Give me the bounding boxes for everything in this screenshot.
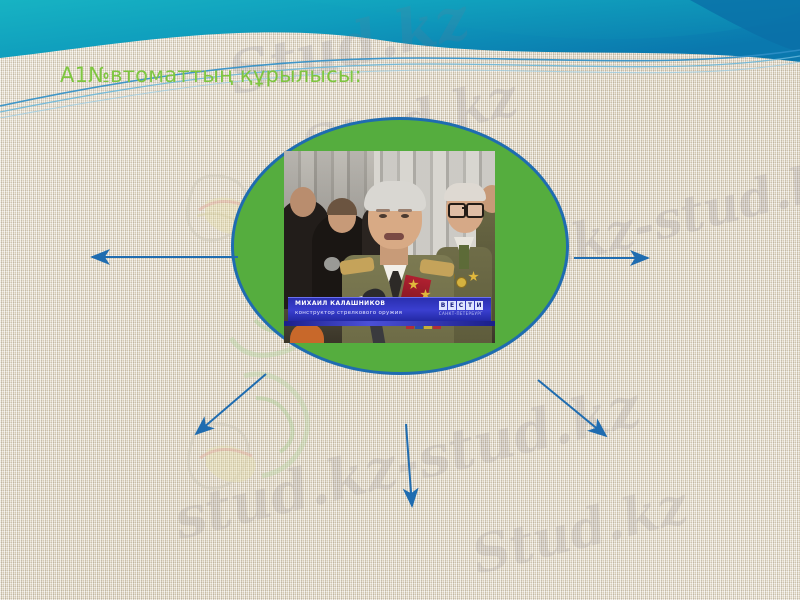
photo-kalashnikov-brow-left	[376, 209, 390, 212]
photo-scene: МИХАИЛ КАЛАШНИКОВ конструктор стрелковог…	[284, 151, 495, 343]
page-title: А1№втоматтың құрылысы:	[60, 63, 362, 87]
photo-kalashnikov-brow-right	[398, 209, 412, 212]
photo-bystander-head	[290, 187, 316, 217]
photo-kalashnikov-eye-left	[379, 214, 387, 218]
kalashnikov-photo[interactable]: МИХАИЛ КАЛАШНИКОВ конструктор стрелковог…	[284, 151, 495, 343]
photo-microphone-secondary	[324, 257, 340, 271]
tv-channel-letter: И	[475, 301, 483, 310]
photo-officer-glasses-hair	[444, 183, 486, 201]
tv-channel-logo: В Е С Т И	[439, 301, 483, 310]
photo-officer-glasses-lens-right	[466, 203, 484, 218]
photo-officer-glasses-medal	[456, 277, 467, 288]
tv-caption-bar: МИХАИЛ КАЛАШНИКОВ конструктор стрелковог…	[288, 297, 491, 322]
photo-officer-glasses-bridge	[462, 207, 467, 209]
tv-channel-sublabel: САНКТ-ПЕТЕРБУРГ	[439, 311, 483, 316]
photo-kalashnikov-eye-right	[401, 214, 409, 218]
tv-channel-letter: С	[457, 301, 465, 310]
tv-channel-letter: Т	[466, 301, 474, 310]
tv-channel-letter: В	[439, 301, 447, 310]
photo-officer-glasses-tie	[459, 245, 469, 269]
tv-channel-letter: Е	[448, 301, 456, 310]
tv-caption-strip	[284, 321, 495, 326]
tv-caption-role: конструктор стрелкового оружия	[295, 310, 402, 316]
photo-kalashnikov-mouth	[384, 233, 404, 240]
photo-officer-glasses-lens-left	[448, 203, 466, 218]
photo-kalashnikov-hair	[364, 181, 426, 211]
tv-caption-name: МИХАИЛ КАЛАШНИКОВ	[295, 300, 385, 307]
slide-canvas: Stud.kz Stud.kz stud.kz-stud.kz stud.kz-…	[0, 0, 800, 600]
